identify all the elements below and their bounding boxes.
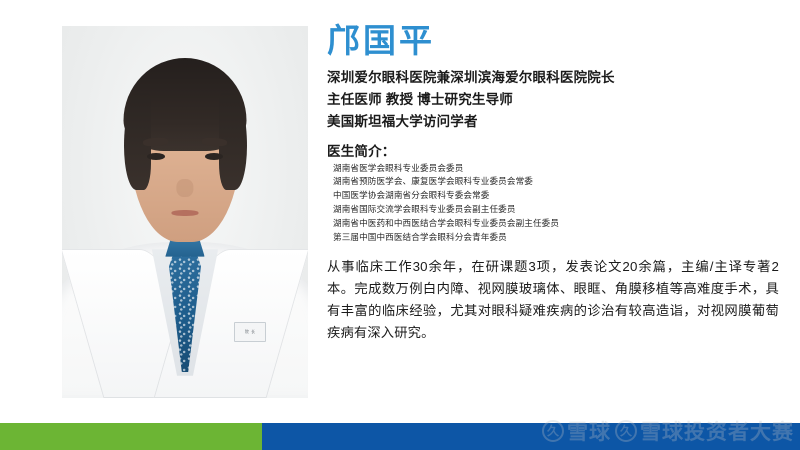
slide-canvas: 院 长 邝国平 深圳爱尔眼科医院兼深圳滨海爱尔眼科医院院长 主任医师 教授 博士… bbox=[0, 0, 800, 450]
headline-titles: 主任医师 教授 博士研究生导师 bbox=[327, 89, 779, 111]
bio-section-label: 医生简介： bbox=[327, 140, 779, 160]
doctor-name-heading: 邝国平 bbox=[327, 22, 779, 61]
credential-item: 湖南省医学会眼科专业委员会委员 bbox=[327, 162, 779, 176]
headline-position: 深圳爱尔眼科医院兼深圳滨海爱尔眼科医院院长 bbox=[327, 67, 779, 89]
bottom-bar-blue-segment bbox=[262, 423, 800, 450]
name-badge: 院 长 bbox=[234, 322, 266, 342]
profile-text-column: 邝国平 深圳爱尔眼科医院兼深圳滨海爱尔眼科医院院长 主任医师 教授 博士研究生导… bbox=[327, 22, 779, 344]
credential-item: 第三届中国中西医结合学会眼科分会青年委员 bbox=[327, 231, 779, 245]
mouth bbox=[171, 210, 198, 216]
experience-summary-paragraph: 从事临床工作30余年，在研课题3项，发表论文20余篇，主编/主译专著2本。完成数… bbox=[327, 256, 779, 344]
bottom-bar-green-segment bbox=[0, 423, 262, 450]
credential-item: 中国医学协会湖南省分会眼科专委会常委 bbox=[327, 189, 779, 203]
credential-item: 湖南省预防医学会、康复医学会眼科专业委员会常委 bbox=[327, 175, 779, 189]
credential-item: 湖南省国际交流学会眼科专业委员会副主任委员 bbox=[327, 203, 779, 217]
credential-item: 湖南省中医药和中西医结合学会眼科专业委员会副主任委员 bbox=[327, 217, 779, 231]
nose bbox=[176, 179, 193, 198]
headline-visiting: 美国斯坦福大学访问学者 bbox=[327, 111, 779, 133]
bottom-color-bar bbox=[0, 423, 800, 450]
doctor-portrait-photo: 院 长 bbox=[62, 26, 308, 398]
